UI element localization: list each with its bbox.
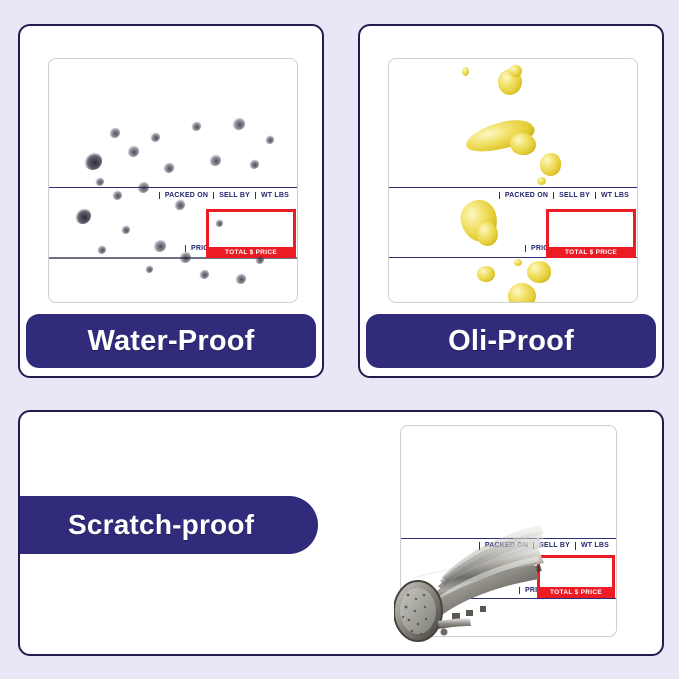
label-header-row: PACKED ON SELL BY WT LBS xyxy=(49,189,297,202)
header-sell-by: SELL BY xyxy=(553,192,595,199)
price-label-water: PACKED ON SELL BY WT LBS PRICE PER LB TO… xyxy=(48,58,298,303)
label-rule-top xyxy=(389,187,637,188)
oil-drop-icon xyxy=(498,69,522,95)
feature-card-oli-proof: PACKED ON SELL BY WT LBS PRICE PER LB TO… xyxy=(358,24,664,378)
oil-drop-icon xyxy=(527,261,551,283)
header-wt-lbs: WT LBS xyxy=(255,192,297,199)
oil-drop-icon xyxy=(477,222,498,246)
water-drop-icon xyxy=(74,207,91,224)
price-label-scratch: PACKED ON SELL BY WT LBS PRICE PER LB TO… xyxy=(400,425,617,637)
header-packed-on: PACKED ON xyxy=(499,192,553,199)
total-price-box: TOTAL $ PRICE xyxy=(537,555,615,598)
price-label-oil: PACKED ON SELL BY WT LBS PRICE PER LB TO… xyxy=(388,58,638,303)
oil-drop-icon xyxy=(537,177,546,185)
total-price-box: TOTAL $ PRICE xyxy=(206,209,296,258)
feature-banner-scratch-proof: Scratch-proof xyxy=(20,496,318,554)
water-drop-icon xyxy=(95,177,104,186)
water-drop-icon xyxy=(249,159,259,169)
feature-card-scratch-proof: Scratch-proof PACKED ON SELL BY WT LBS P… xyxy=(18,410,664,656)
water-drop-icon xyxy=(97,245,106,254)
header-wt-lbs: WT LBS xyxy=(575,542,616,549)
feature-banner-label: Oli-Proof xyxy=(448,325,574,358)
total-price-box: TOTAL $ PRICE xyxy=(546,209,636,258)
water-drop-icon xyxy=(153,239,166,252)
product-feature-infographic: PACKED ON SELL BY WT LBS PRICE PER LB TO… xyxy=(0,0,679,679)
feature-card-water-proof: PACKED ON SELL BY WT LBS PRICE PER LB TO… xyxy=(18,24,324,378)
label-header-row: PACKED ON SELL BY WT LBS xyxy=(389,189,637,202)
water-drop-icon xyxy=(265,135,274,144)
oil-drop-icon xyxy=(458,197,500,244)
oil-drop-icon xyxy=(509,65,522,77)
total-price-bar: TOTAL $ PRICE xyxy=(206,247,296,258)
header-packed-on: PACKED ON xyxy=(479,542,533,549)
total-price-bar: TOTAL $ PRICE xyxy=(546,247,636,258)
label-rule-bottom xyxy=(401,598,616,599)
oil-drop-icon xyxy=(462,67,469,76)
header-sell-by: SELL BY xyxy=(213,192,255,199)
feature-banner-water-proof: Water-Proof xyxy=(26,314,316,368)
water-drop-icon xyxy=(150,132,160,142)
oil-drop-icon xyxy=(463,115,537,157)
water-drop-icon xyxy=(83,151,102,170)
feature-banner-label: Scratch-proof xyxy=(68,509,254,541)
label-rule-top xyxy=(49,187,297,188)
header-packed-on: PACKED ON xyxy=(159,192,213,199)
water-drop-icon xyxy=(232,117,245,130)
water-drop-icon xyxy=(109,127,120,138)
header-wt-lbs: WT LBS xyxy=(595,192,637,199)
water-drop-icon xyxy=(121,225,130,234)
water-drop-icon xyxy=(235,273,246,284)
oil-drop-icon xyxy=(540,153,561,176)
oil-drop-icon xyxy=(508,283,536,303)
oil-drop-icon xyxy=(477,266,495,282)
feature-banner-oli-proof: Oli-Proof xyxy=(366,314,656,368)
water-drop-icon xyxy=(163,162,174,173)
water-drop-icon xyxy=(209,154,221,166)
label-inner: PACKED ON SELL BY WT LBS PRICE PER LB TO… xyxy=(49,59,297,302)
label-inner: PACKED ON SELL BY WT LBS PRICE PER LB TO… xyxy=(401,426,616,636)
oil-drop-icon xyxy=(514,259,522,266)
total-price-bar: TOTAL $ PRICE xyxy=(537,587,615,598)
water-drop-icon xyxy=(127,145,139,157)
label-rule-top xyxy=(401,538,616,539)
feature-banner-label: Water-Proof xyxy=(87,325,254,358)
oil-drop-icon xyxy=(510,133,536,155)
water-drop-icon xyxy=(191,121,201,131)
label-inner: PACKED ON SELL BY WT LBS PRICE PER LB TO… xyxy=(389,59,637,302)
label-header-row: PACKED ON SELL BY WT LBS xyxy=(401,540,616,552)
water-drop-icon xyxy=(199,269,209,279)
header-sell-by: SELL BY xyxy=(533,542,575,549)
water-drop-icon xyxy=(145,265,153,273)
